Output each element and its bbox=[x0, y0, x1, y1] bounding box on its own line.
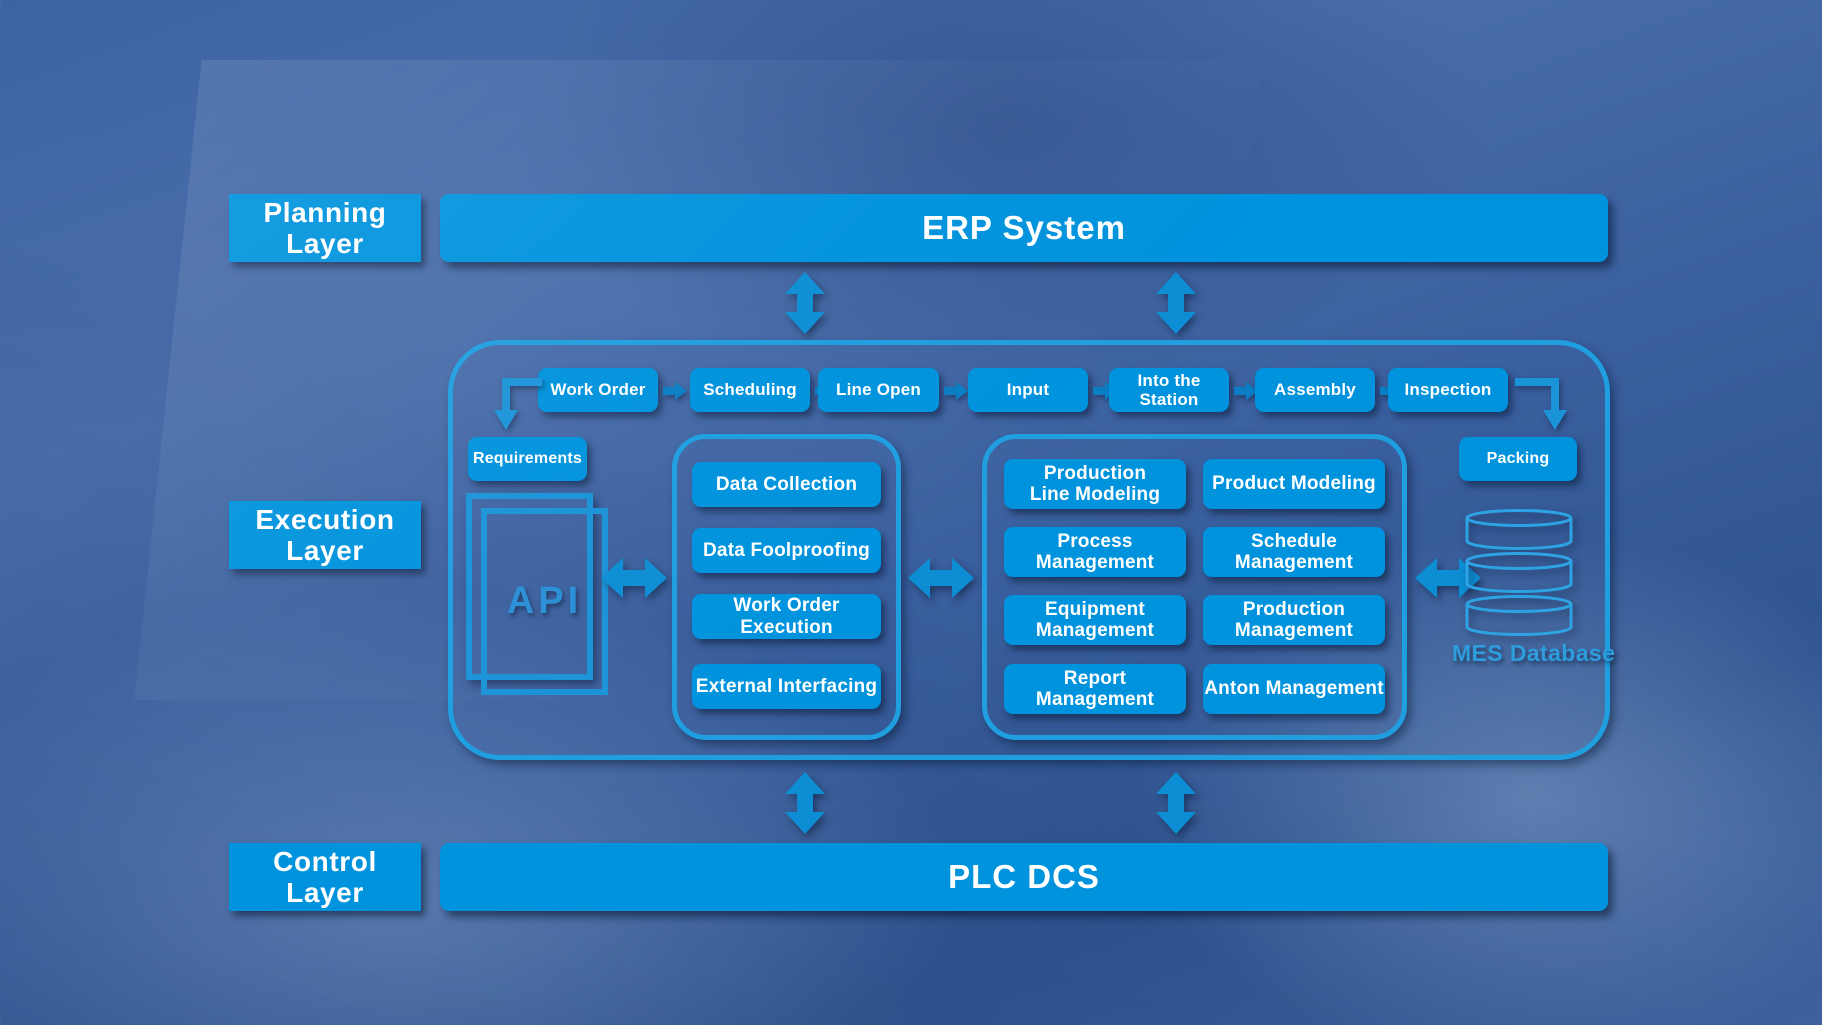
flow-step-input[interactable]: Input bbox=[968, 368, 1088, 412]
flow-arrow-1 bbox=[663, 382, 687, 400]
mgmt-item-equipment-management[interactable]: Equipment Management bbox=[1004, 595, 1186, 645]
layer-tag-planning: Planning Layer bbox=[229, 194, 421, 262]
diagram-canvas: Planning Layer ERP System Execution Laye… bbox=[0, 0, 1822, 1025]
flow-step-inspection[interactable]: Inspection bbox=[1388, 368, 1508, 412]
layer-tag-control: Control Layer bbox=[229, 843, 421, 911]
plc-left-double-arrow bbox=[783, 772, 827, 834]
mgmt-item-anton-management[interactable]: Anton Management bbox=[1203, 664, 1385, 714]
mgmt-item-production-line-modeling[interactable]: Production Line Modeling bbox=[1004, 459, 1186, 509]
database-cylinder-2 bbox=[1464, 552, 1574, 594]
flow-step-work-order[interactable]: Work Order bbox=[538, 368, 658, 412]
mgmt-item-process-management[interactable]: Process Management bbox=[1004, 527, 1186, 577]
exec-item-work-order-execution[interactable]: Work Order Execution bbox=[692, 594, 881, 639]
erp-system-bar[interactable]: ERP System bbox=[440, 194, 1608, 262]
database-label: MES Database bbox=[1452, 640, 1615, 667]
flow-entry-requirements[interactable]: Requirements bbox=[468, 437, 587, 481]
exec-item-data-foolproofing[interactable]: Data Foolproofing bbox=[692, 528, 881, 573]
flow-step-into-the-station[interactable]: Into the Station bbox=[1109, 368, 1229, 412]
api-to-exec-double-arrow bbox=[601, 556, 667, 600]
exec-to-mgmt-double-arrow bbox=[908, 556, 974, 600]
flow-step-assembly[interactable]: Assembly bbox=[1255, 368, 1375, 412]
api-label: API bbox=[507, 580, 582, 623]
flow-step-line-open[interactable]: Line Open bbox=[818, 368, 939, 412]
exec-item-external-interfacing[interactable]: External Interfacing bbox=[692, 664, 881, 709]
flow-exit-elbow bbox=[1513, 378, 1569, 430]
erp-right-double-arrow bbox=[1154, 272, 1198, 334]
database-cylinder-1 bbox=[1464, 509, 1574, 551]
flow-exit-packing[interactable]: Packing bbox=[1459, 437, 1577, 481]
erp-left-double-arrow bbox=[783, 272, 827, 334]
database-cylinder-3 bbox=[1464, 595, 1574, 637]
api-block[interactable]: API bbox=[481, 508, 608, 695]
mgmt-item-report-management[interactable]: Report Management bbox=[1004, 664, 1186, 714]
flow-arrow-3 bbox=[944, 382, 968, 400]
mgmt-item-production-management[interactable]: Production Management bbox=[1203, 595, 1385, 645]
layer-tag-execution: Execution Layer bbox=[229, 501, 421, 569]
flow-step-scheduling[interactable]: Scheduling bbox=[690, 368, 810, 412]
exec-item-data-collection[interactable]: Data Collection bbox=[692, 462, 881, 507]
plc-right-double-arrow bbox=[1154, 772, 1198, 834]
mgmt-item-product-modeling[interactable]: Product Modeling bbox=[1203, 459, 1385, 509]
plc-dcs-bar[interactable]: PLC DCS bbox=[440, 843, 1608, 911]
flow-entry-elbow bbox=[492, 378, 544, 430]
mgmt-item-schedule-management[interactable]: Schedule Management bbox=[1203, 527, 1385, 577]
